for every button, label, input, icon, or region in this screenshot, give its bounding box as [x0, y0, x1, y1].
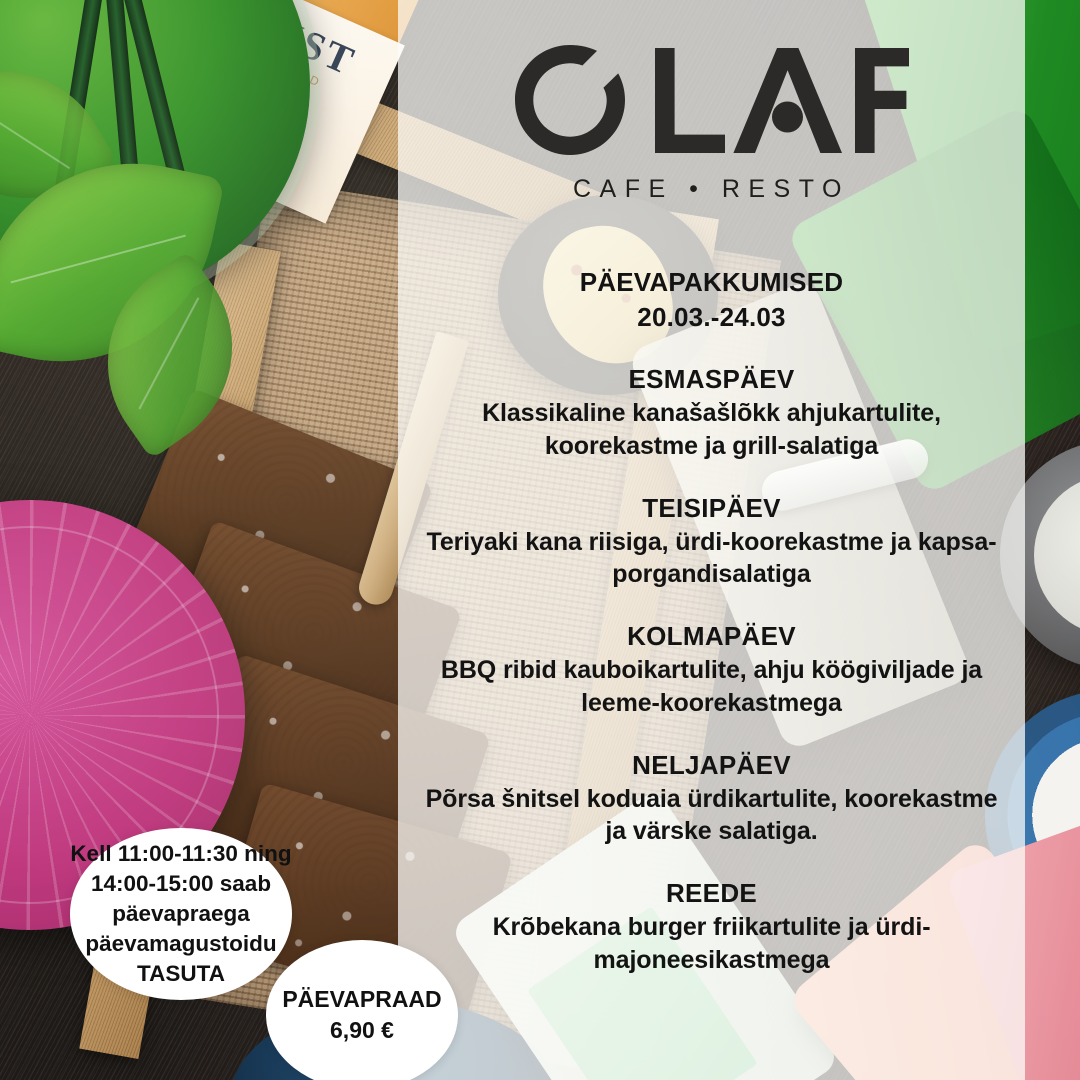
price-text: PÄEVAPRAAD 6,90 € — [266, 984, 458, 1046]
day-name: REEDE — [398, 878, 1025, 909]
menu-poster: REALIST KÄSITÖÖLIMONAAD 33CL — [0, 0, 1080, 1080]
logo-wordmark — [515, 45, 909, 155]
brand-tagline: CAFE • RESTO — [573, 175, 850, 204]
day-name: NELJAPÄEV — [398, 750, 1025, 781]
menu-content: PÄEVAPAKKUMISED 20.03.-24.03 ESMASPÄEV K… — [398, 265, 1025, 977]
day-name: ESMASPÄEV — [398, 364, 1025, 395]
day-dish: Klassikaline kanašašlõkk ahjukartulite, … — [398, 397, 1025, 463]
day-dish: Krõbekana burger friikartulite ja ürdi-m… — [398, 911, 1025, 977]
day-name: KOLMAPÄEV — [398, 621, 1025, 652]
menu-day-monday: ESMASPÄEV Klassikaline kanašašlõkk ahjuk… — [398, 364, 1025, 463]
menu-day-thursday: NELJAPÄEV Põrsa šnitsel koduaia ürdikart… — [398, 750, 1025, 849]
menu-day-wednesday: KOLMAPÄEV BBQ ribid kauboikartulite, ahj… — [398, 621, 1025, 720]
price-badge: PÄEVAPRAAD 6,90 € — [266, 940, 458, 1080]
opening-hours-text: Kell 11:00-11:30 ning 14:00-15:00 saab p… — [70, 839, 292, 989]
brand-logo: CAFE • RESTO — [398, 45, 1025, 204]
day-dish: Teriyaki kana riisiga, ürdi-koorekastme … — [398, 526, 1025, 592]
day-name: TEISIPÄEV — [398, 493, 1025, 524]
menu-day-friday: REEDE Krõbekana burger friikartulite ja … — [398, 878, 1025, 977]
day-dish: BBQ ribid kauboikartulite, ahju köögivil… — [398, 654, 1025, 720]
opening-hours-badge: Kell 11:00-11:30 ning 14:00-15:00 saab p… — [70, 828, 292, 1000]
day-dish: Põrsa šnitsel koduaia ürdikartulite, koo… — [398, 783, 1025, 849]
olaf-logotype-icon — [515, 45, 909, 155]
menu-date-range: 20.03.-24.03 — [398, 300, 1025, 335]
menu-title: PÄEVAPAKKUMISED — [398, 265, 1025, 300]
menu-day-tuesday: TEISIPÄEV Teriyaki kana riisiga, ürdi-ko… — [398, 493, 1025, 592]
